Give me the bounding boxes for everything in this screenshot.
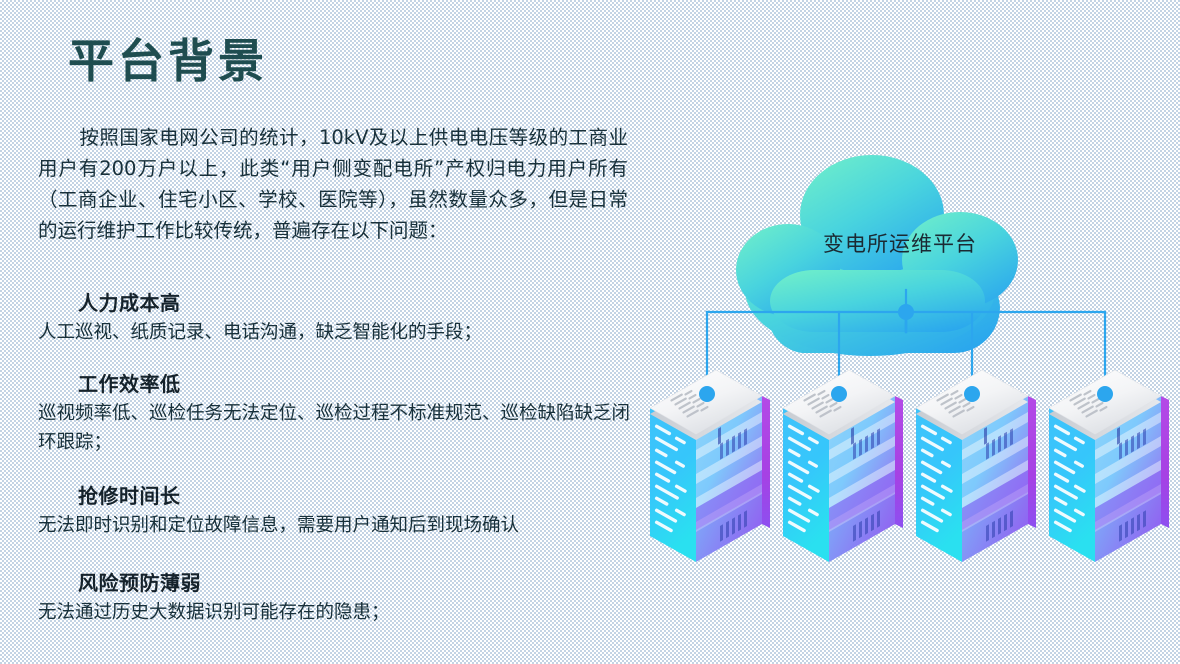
problem-item: 风险预防薄弱 无法通过历史大数据识别可能存在的隐患； <box>38 568 638 627</box>
problem-list: 人力成本高 人工巡视、纸质记录、电话沟通，缺乏智能化的手段； 工作效率低 巡视频… <box>38 288 638 629</box>
rack-node-dot-top <box>1097 386 1113 402</box>
problem-body: 人工巡视、纸质记录、电话沟通，缺乏智能化的手段； <box>38 318 638 347</box>
problem-heading: 人力成本高 <box>38 288 638 318</box>
intro-text: 按照国家电网公司的统计，10kV及以上供电电压等级的工商业用户有200万户以上，… <box>38 126 628 242</box>
spacer <box>38 542 638 568</box>
problem-heading: 抢修时间长 <box>38 481 638 511</box>
rack-node-dot-top <box>699 386 715 402</box>
problem-item: 人力成本高 人工巡视、纸质记录、电话沟通，缺乏智能化的手段； <box>38 288 638 347</box>
diagram-canvas <box>620 110 1180 610</box>
problem-item: 抢修时间长 无法即时识别和定位故障信息，需要用户通知后到现场确认 <box>38 481 638 540</box>
rack-node-dot-top <box>831 386 847 402</box>
page-title: 平台背景 <box>68 38 268 84</box>
problem-body: 巡视频率低、巡检任务无法定位、巡检过程不标准规范、巡检缺陷缺乏闭环跟踪； <box>38 399 638 457</box>
problem-body: 无法通过历史大数据识别可能存在的隐患； <box>38 598 638 627</box>
intro-paragraph: 按照国家电网公司的统计，10kV及以上供电电压等级的工商业用户有200万户以上，… <box>38 122 628 246</box>
problem-body: 无法即时识别和定位故障信息，需要用户通知后到现场确认 <box>38 511 638 540</box>
cloud-shape <box>736 155 1018 356</box>
hub-node-dot <box>898 304 914 320</box>
problem-heading: 风险预防薄弱 <box>38 568 638 598</box>
rack-node-dot-top <box>964 386 980 402</box>
spacer <box>38 459 638 481</box>
platform-architecture-diagram: 变电所运维平台 <box>620 110 1180 610</box>
slide-root: 平台背景 按照国家电网公司的统计，10kV及以上供电电压等级的工商业用户有200… <box>0 0 1180 664</box>
problem-heading: 工作效率低 <box>38 369 638 399</box>
spacer <box>38 349 638 369</box>
problem-item: 工作效率低 巡视频率低、巡检任务无法定位、巡检过程不标准规范、巡检缺陷缺乏闭环跟… <box>38 369 638 457</box>
